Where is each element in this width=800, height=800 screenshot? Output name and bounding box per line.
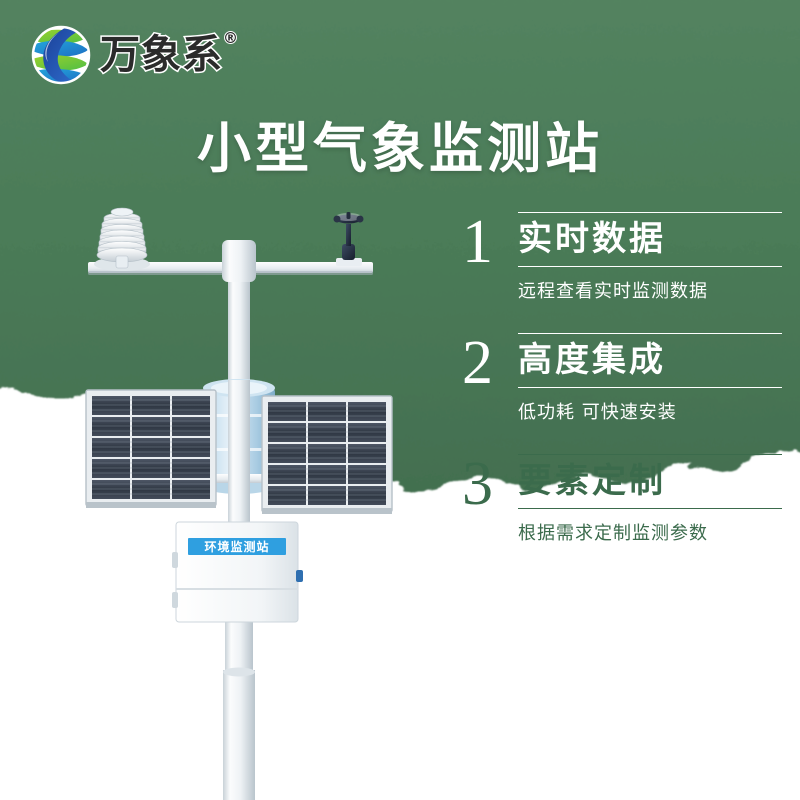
brand-name-text: 万象系 bbox=[100, 32, 223, 78]
feature-item-3: 3 要素定制 根据需求定制监测参数 bbox=[462, 454, 782, 545]
feature-item-2: 2 高度集成 低功耗 可快速安装 bbox=[462, 333, 782, 424]
globe-swirl-icon bbox=[30, 24, 92, 86]
page-title: 小型气象监测站 bbox=[0, 104, 800, 183]
poster-canvas: 万象系 ® 小型气象监测站 bbox=[0, 0, 800, 800]
feature-item-1: 1 实时数据 远程查看实时监测数据 bbox=[462, 212, 782, 303]
brand-logo: 万象系 ® bbox=[30, 24, 223, 86]
solar-panel-left bbox=[86, 390, 216, 508]
radiation-shield-sensor bbox=[94, 208, 150, 271]
feature-number-3: 3 bbox=[462, 454, 514, 514]
feature-number-1: 1 bbox=[462, 212, 514, 272]
feature-title-1: 实时数据 bbox=[518, 212, 782, 267]
feature-title-2: 高度集成 bbox=[518, 333, 782, 388]
feature-number-2: 2 bbox=[462, 333, 514, 393]
feature-subtitle-2: 低功耗 可快速安装 bbox=[518, 402, 782, 424]
feature-list: 1 实时数据 远程查看实时监测数据 2 高度集成 低功耗 可快速安装 3 要素定… bbox=[462, 212, 782, 545]
feature-subtitle-1: 远程查看实时监测数据 bbox=[518, 281, 782, 303]
brand-wordmark: 万象系 ® bbox=[100, 35, 223, 75]
ultrasonic-wind-sensor bbox=[334, 212, 364, 266]
feature-title-3: 要素定制 bbox=[518, 454, 782, 509]
product-image: 环境监测站 bbox=[60, 200, 440, 800]
registered-trademark-icon: ® bbox=[223, 31, 239, 46]
solar-panel-right bbox=[262, 396, 392, 514]
feature-subtitle-3: 根据需求定制监测参数 bbox=[518, 523, 782, 545]
